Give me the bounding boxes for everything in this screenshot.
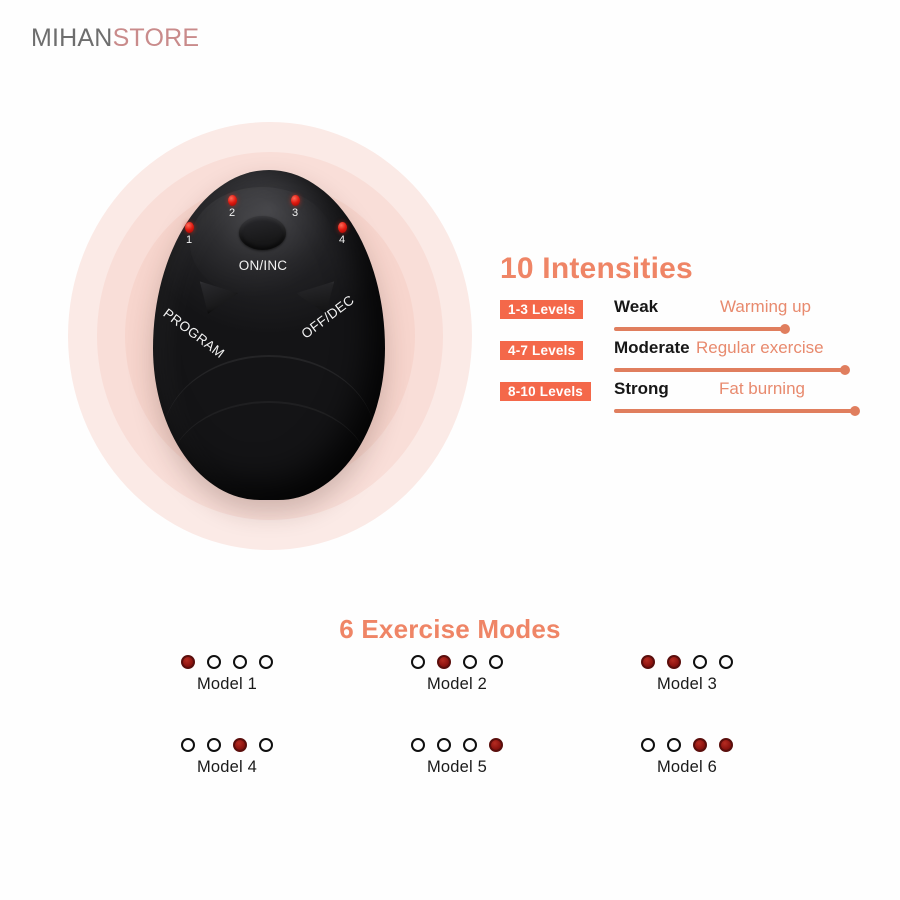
mode-cell-5[interactable]: Model 5 — [342, 738, 572, 777]
intensity-bar-3 — [614, 409, 856, 413]
mode-5-dot-1-off — [411, 738, 425, 752]
mode-5-dot-3-off — [463, 738, 477, 752]
on-inc-button[interactable] — [239, 216, 286, 250]
mode-4-dot-2-off — [207, 738, 221, 752]
intensity-bar-2 — [614, 368, 846, 372]
mode-3-dot-2-on — [667, 655, 681, 669]
mode-3-dot-1-on — [641, 655, 655, 669]
mode-2-dot-3-off — [463, 655, 477, 669]
intensity-badge-2: 4-7 Levels — [500, 341, 583, 360]
mode-label-4: Model 4 — [112, 758, 342, 777]
led-indicator-3 — [291, 195, 300, 206]
brand-name-primary: MIHAN — [31, 24, 113, 52]
program-button[interactable] — [197, 276, 241, 316]
mode-label-3: Model 3 — [572, 675, 802, 694]
led-indicator-2 — [228, 195, 237, 206]
intensity-row-1: 1-3 Levels Weak Warming up — [500, 299, 872, 339]
brand-watermark: MIHANSTORE — [31, 24, 199, 53]
led-indicator-4 — [338, 222, 347, 233]
mode-cell-6[interactable]: Model 6 — [572, 738, 802, 777]
mode-3-dot-3-off — [693, 655, 707, 669]
mode-cell-1[interactable]: Model 1 — [112, 655, 342, 694]
mode-3-dot-4-off — [719, 655, 733, 669]
mode-dots-3 — [572, 655, 802, 669]
on-inc-label: ON/INC — [227, 258, 299, 273]
product-infographic-page: MIHANSTORE 1 2 3 4 ON/INC PROGRAM OFF/DE… — [0, 0, 900, 900]
mode-5-dot-4-on — [489, 738, 503, 752]
mode-1-dot-4-off — [259, 655, 273, 669]
brand-name-secondary: STORE — [113, 24, 200, 52]
mode-cell-4[interactable]: Model 4 — [112, 738, 342, 777]
modes-grid: Model 1 Model 2 Model 3 Model 4 Model 5 … — [112, 655, 802, 777]
led-number-3: 3 — [292, 207, 298, 219]
program-label: PROGRAM — [160, 306, 227, 362]
intensity-benefit-3: Fat burning — [719, 379, 805, 399]
led-number-1: 1 — [186, 234, 192, 246]
mode-6-dot-4-on — [719, 738, 733, 752]
intensity-knob-2 — [840, 365, 850, 375]
mode-label-1: Model 1 — [112, 675, 342, 694]
mode-2-dot-1-off — [411, 655, 425, 669]
mode-4-dot-1-off — [181, 738, 195, 752]
mode-cell-3[interactable]: Model 3 — [572, 655, 802, 694]
mode-dots-4 — [112, 738, 342, 752]
mode-5-dot-2-off — [437, 738, 451, 752]
device-illustration: 1 2 3 4 ON/INC PROGRAM OFF/DEC — [55, 110, 485, 560]
mode-6-dot-1-off — [641, 738, 655, 752]
led-number-2: 2 — [229, 207, 235, 219]
mode-6-dot-3-on — [693, 738, 707, 752]
intensity-knob-1 — [780, 324, 790, 334]
mode-6-dot-2-off — [667, 738, 681, 752]
mode-label-5: Model 5 — [342, 758, 572, 777]
intensity-badge-3: 8-10 Levels — [500, 382, 591, 401]
mode-1-dot-2-off — [207, 655, 221, 669]
led-number-4: 4 — [339, 234, 345, 246]
intensity-strength-1: Weak — [614, 297, 658, 317]
intensity-strength-3: Strong — [614, 379, 669, 399]
mode-4-dot-3-on — [233, 738, 247, 752]
modes-title: 6 Exercise Modes — [0, 614, 900, 645]
intensity-benefit-2: Regular exercise — [696, 338, 824, 358]
mode-dots-5 — [342, 738, 572, 752]
mode-label-2: Model 2 — [342, 675, 572, 694]
mode-4-dot-4-off — [259, 738, 273, 752]
led-indicator-1 — [185, 222, 194, 233]
intensity-row-3: 8-10 Levels Strong Fat burning — [500, 381, 872, 421]
intensity-knob-3 — [850, 406, 860, 416]
mode-cell-2[interactable]: Model 2 — [342, 655, 572, 694]
mode-1-dot-1-on — [181, 655, 195, 669]
mode-label-6: Model 6 — [572, 758, 802, 777]
intensities-panel: 10 Intensities 1-3 Levels Weak Warming u… — [500, 252, 872, 422]
mode-dots-1 — [112, 655, 342, 669]
intensity-strength-2: Moderate — [614, 338, 690, 358]
mode-2-dot-2-on — [437, 655, 451, 669]
intensity-benefit-1: Warming up — [720, 297, 811, 317]
intensities-title: 10 Intensities — [500, 252, 872, 285]
mode-dots-6 — [572, 738, 802, 752]
intensity-row-2: 4-7 Levels Moderate Regular exercise — [500, 340, 872, 380]
intensity-badge-1: 1-3 Levels — [500, 300, 583, 319]
mode-dots-2 — [342, 655, 572, 669]
mode-2-dot-4-off — [489, 655, 503, 669]
intensity-bar-1 — [614, 327, 786, 331]
mode-1-dot-3-off — [233, 655, 247, 669]
